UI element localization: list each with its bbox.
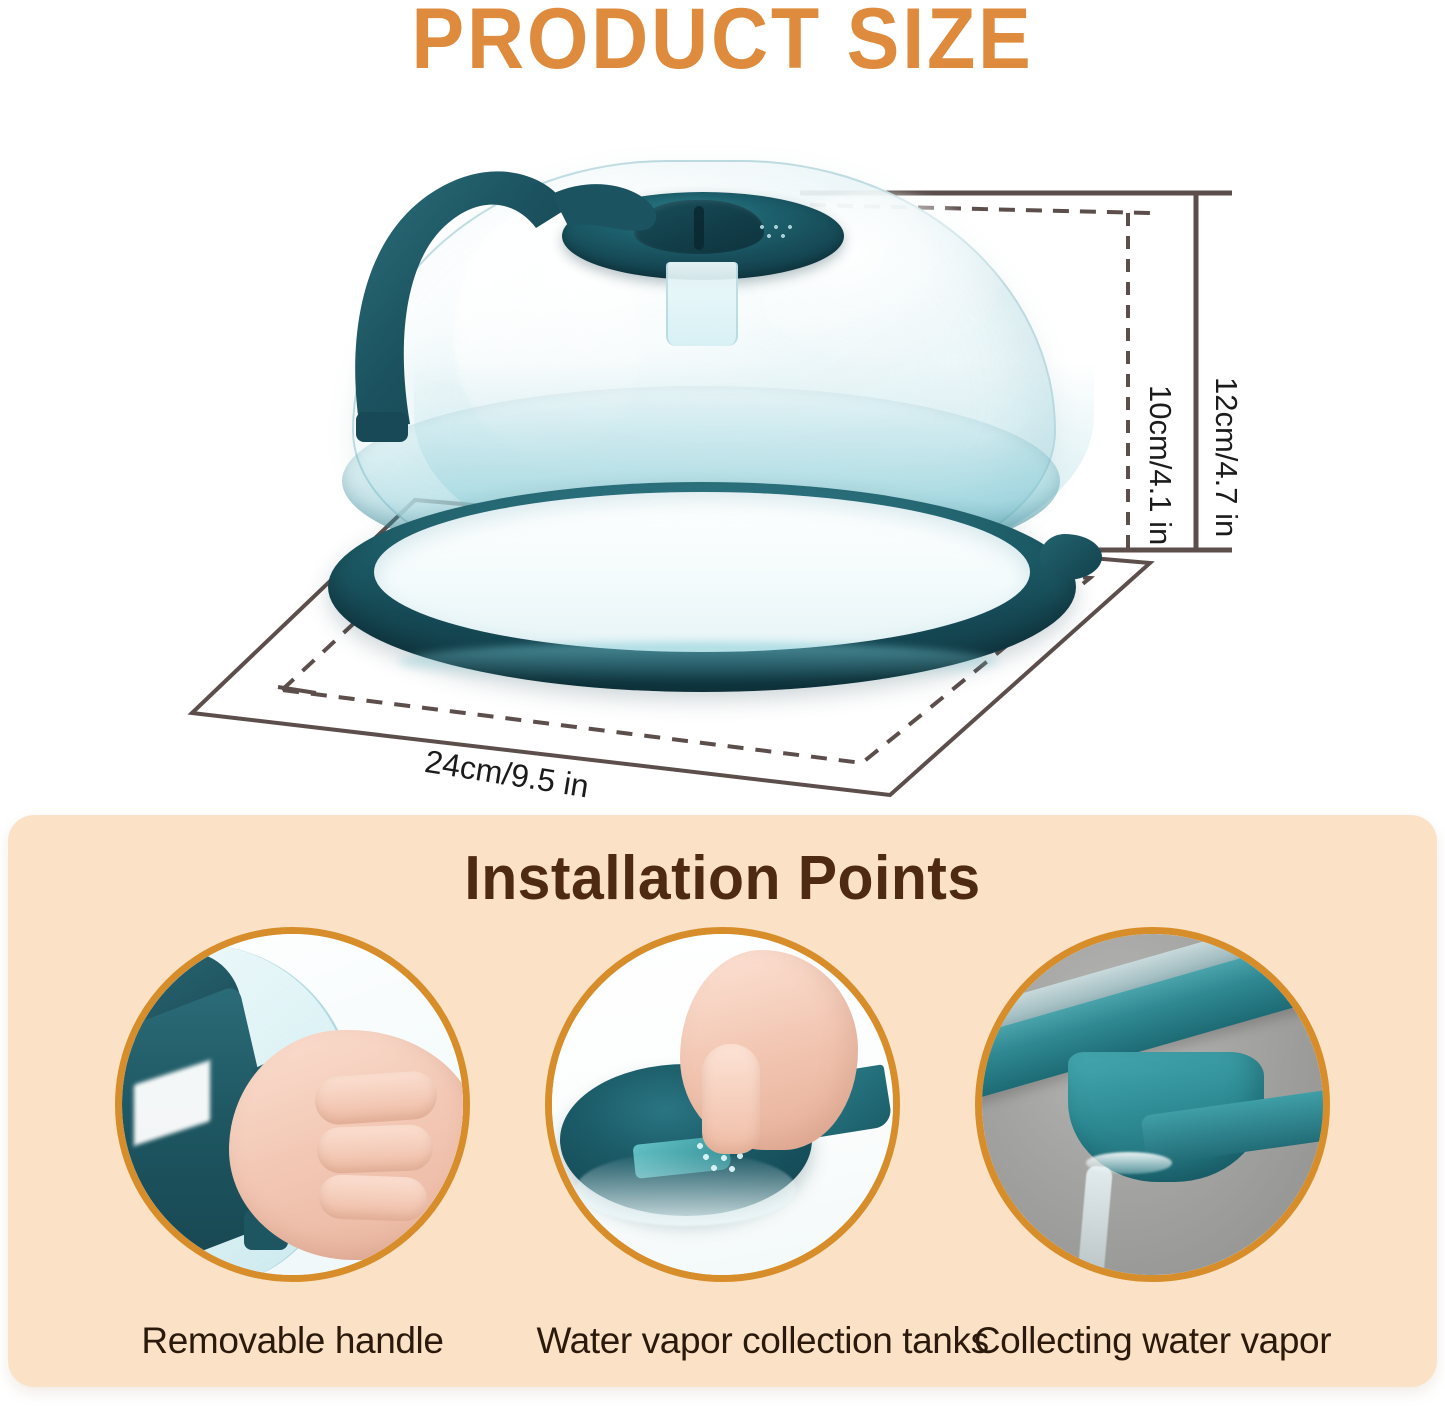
installation-points-panel: Installation Points bbox=[8, 815, 1437, 1387]
water-pouring-from-spout-photo bbox=[975, 927, 1330, 1282]
photo1-finger-1 bbox=[313, 1070, 438, 1126]
width-inner-label: 24cm/9.5 in bbox=[422, 743, 591, 805]
base-ring-highlight bbox=[398, 642, 998, 682]
caption-cell-1: Removable handle bbox=[107, 1320, 479, 1362]
vent-holes-icon bbox=[756, 222, 814, 244]
base-tray-interior bbox=[374, 492, 1030, 652]
height-outer-label: 12cm/4.7 in bbox=[1208, 377, 1244, 537]
installation-captions-row: Removable handle Water vapor collection … bbox=[8, 1320, 1437, 1362]
caption-cell-2: Water vapor collection tanks bbox=[537, 1320, 909, 1362]
photo2-pinching-fingers bbox=[702, 1044, 760, 1154]
pinching-vent-cap-photo bbox=[545, 927, 900, 1282]
product-illustration bbox=[300, 150, 1100, 710]
installation-photos-row bbox=[8, 927, 1437, 1327]
installation-points-title: Installation Points bbox=[44, 843, 1402, 914]
base-tray-ring bbox=[328, 482, 1076, 692]
installation-item-3 bbox=[967, 927, 1339, 1327]
vent-knob bbox=[634, 200, 764, 254]
installation-item-1 bbox=[107, 927, 479, 1327]
photo1-finger-2 bbox=[316, 1124, 434, 1174]
installation-caption-2: Water vapor collection tanks bbox=[537, 1320, 989, 1361]
photo2-disc-rim bbox=[576, 1152, 796, 1226]
page-title: PRODUCT SIZE bbox=[58, 0, 1387, 84]
installation-item-2 bbox=[537, 927, 909, 1327]
installation-caption-3: Collecting water vapor bbox=[974, 1320, 1331, 1361]
installation-caption-1: Removable handle bbox=[141, 1320, 443, 1361]
hand-gripping-handle-photo bbox=[115, 927, 470, 1282]
product-size-section: 12cm/4.7 in 10cm/4.1 in 24cm/9.5 in 29.5… bbox=[0, 95, 1445, 810]
caption-cell-3: Collecting water vapor bbox=[967, 1320, 1339, 1362]
photo1-finger-3 bbox=[318, 1174, 427, 1222]
height-inner-label: 10cm/4.1 in bbox=[1142, 385, 1178, 545]
base-pour-spout-tab bbox=[1040, 534, 1102, 580]
vent-center-shaft bbox=[666, 262, 738, 346]
